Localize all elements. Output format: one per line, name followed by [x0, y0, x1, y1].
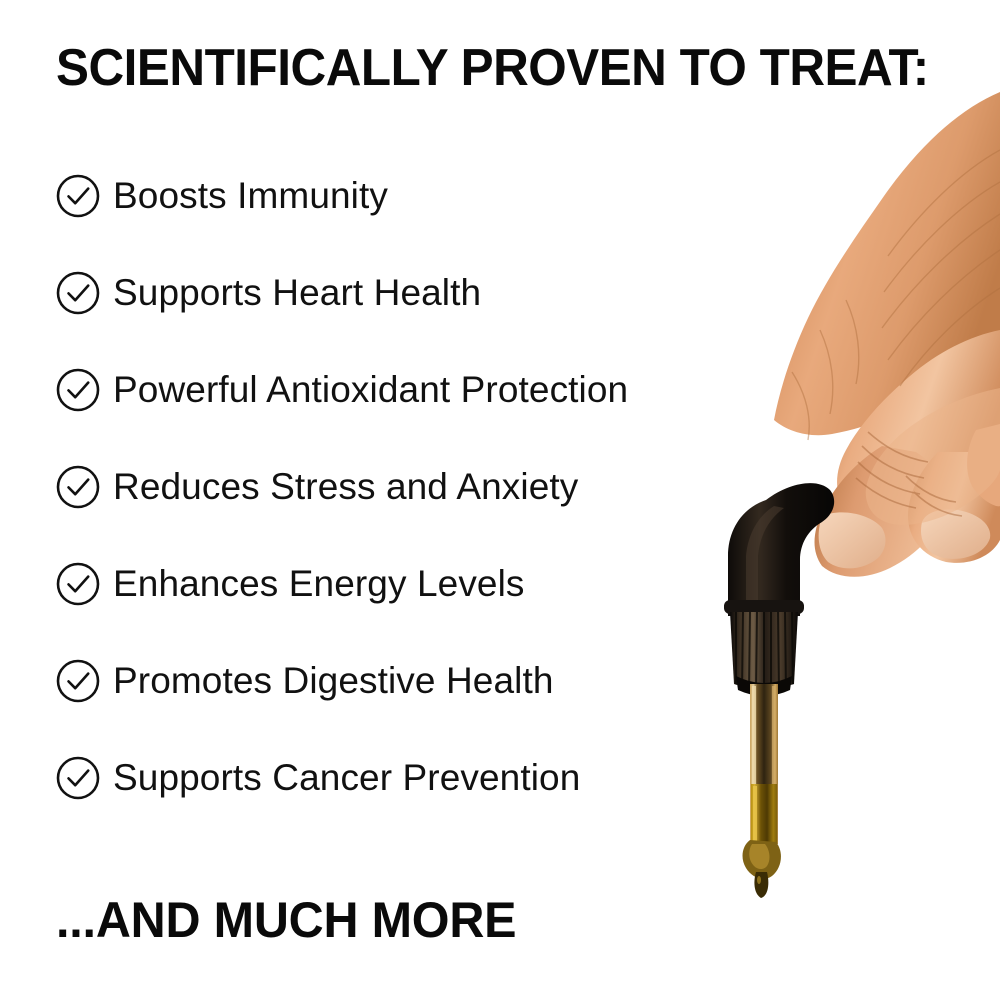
hand-ring-finger — [967, 424, 1000, 506]
check-circle-icon — [56, 756, 100, 800]
benefit-list: Boosts Immunity Supports Heart Health Po… — [56, 168, 756, 847]
hand-index-fingertip — [815, 446, 946, 577]
oil-droplet — [754, 872, 768, 898]
list-item: Supports Heart Health — [56, 265, 756, 321]
check-circle-icon — [56, 562, 100, 606]
hand-back — [774, 92, 1000, 435]
list-item-label: Reduces Stress and Anxiety — [113, 465, 578, 509]
tip-highlight — [749, 844, 769, 869]
list-item-label: Boosts Immunity — [113, 174, 388, 218]
list-item: Enhances Energy Levels — [56, 556, 756, 612]
check-circle-icon — [56, 271, 100, 315]
list-item: Powerful Antioxidant Protection — [56, 362, 756, 418]
page-title: SCIENTIFICALLY PROVEN TO TREAT: — [56, 38, 929, 98]
list-item: Supports Cancer Prevention — [56, 750, 756, 806]
check-circle-icon — [56, 368, 100, 412]
skin-crease-lines — [792, 150, 1000, 440]
list-item: Boosts Immunity — [56, 168, 756, 224]
list-item-label: Supports Cancer Prevention — [113, 756, 580, 800]
fingernail — [921, 510, 990, 559]
droplet-highlight — [757, 876, 761, 884]
hand-index-finger — [837, 330, 1000, 518]
list-item-label: Promotes Digestive Health — [113, 659, 554, 703]
list-item: Reduces Stress and Anxiety — [56, 459, 756, 515]
list-item: Promotes Digestive Health — [56, 653, 756, 709]
list-item-label: Powerful Antioxidant Protection — [113, 368, 628, 412]
hand-thumb — [866, 388, 1000, 525]
promo-poster: SCIENTIFICALLY PROVEN TO TREAT: Boosts I… — [0, 0, 1000, 1000]
knuckle-crease-lines — [856, 432, 962, 516]
footer-title: ...AND MUCH MORE — [56, 890, 516, 950]
fingernail — [819, 512, 886, 568]
check-circle-icon — [56, 174, 100, 218]
check-circle-icon — [56, 659, 100, 703]
hand-middle-finger — [908, 452, 1000, 563]
list-item-label: Supports Heart Health — [113, 271, 481, 315]
list-item-label: Enhances Energy Levels — [113, 562, 525, 606]
glass-highlight-right — [772, 686, 775, 842]
check-circle-icon — [56, 465, 100, 509]
